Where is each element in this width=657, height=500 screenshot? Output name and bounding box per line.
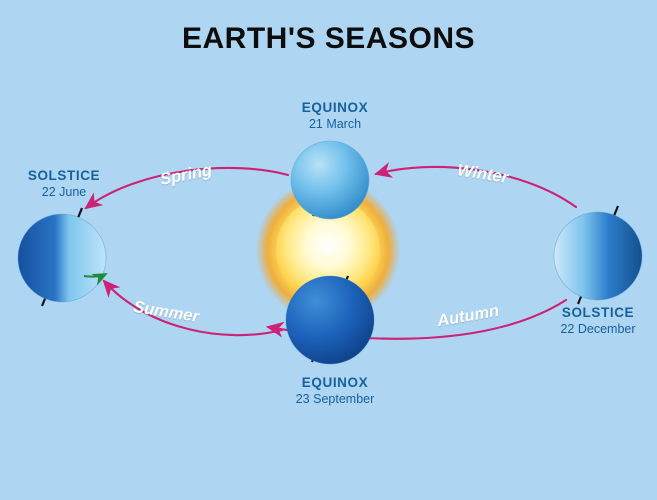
- label-equinox-march-name: EQUINOX: [270, 100, 400, 117]
- label-solstice-december-date: 22 December: [540, 322, 656, 338]
- label-solstice-june: SOLSTICE 22 June: [8, 168, 120, 201]
- label-solstice-june-date: 22 June: [8, 185, 120, 201]
- orbit-scene: [0, 0, 657, 500]
- label-equinox-september-name: EQUINOX: [270, 375, 400, 392]
- earth-equinox-september: [286, 276, 374, 371]
- earth-solstice-june: [18, 208, 106, 306]
- page-title: EARTH'S SEASONS: [0, 22, 657, 56]
- label-solstice-december: SOLSTICE 22 December: [540, 305, 656, 338]
- earth-equinox-march: [291, 141, 369, 219]
- label-solstice-june-name: SOLSTICE: [8, 168, 120, 185]
- label-equinox-march: EQUINOX 21 March: [270, 100, 400, 133]
- earth-solstice-december: [554, 206, 642, 304]
- seasons-diagram-canvas: EARTH'S SEASONS EQUINOX 21 March SOLSTIC…: [0, 0, 657, 500]
- label-solstice-december-name: SOLSTICE: [540, 305, 656, 322]
- label-equinox-september: EQUINOX 23 September: [270, 375, 400, 408]
- label-equinox-march-date: 21 March: [270, 117, 400, 133]
- label-equinox-september-date: 23 September: [270, 392, 400, 408]
